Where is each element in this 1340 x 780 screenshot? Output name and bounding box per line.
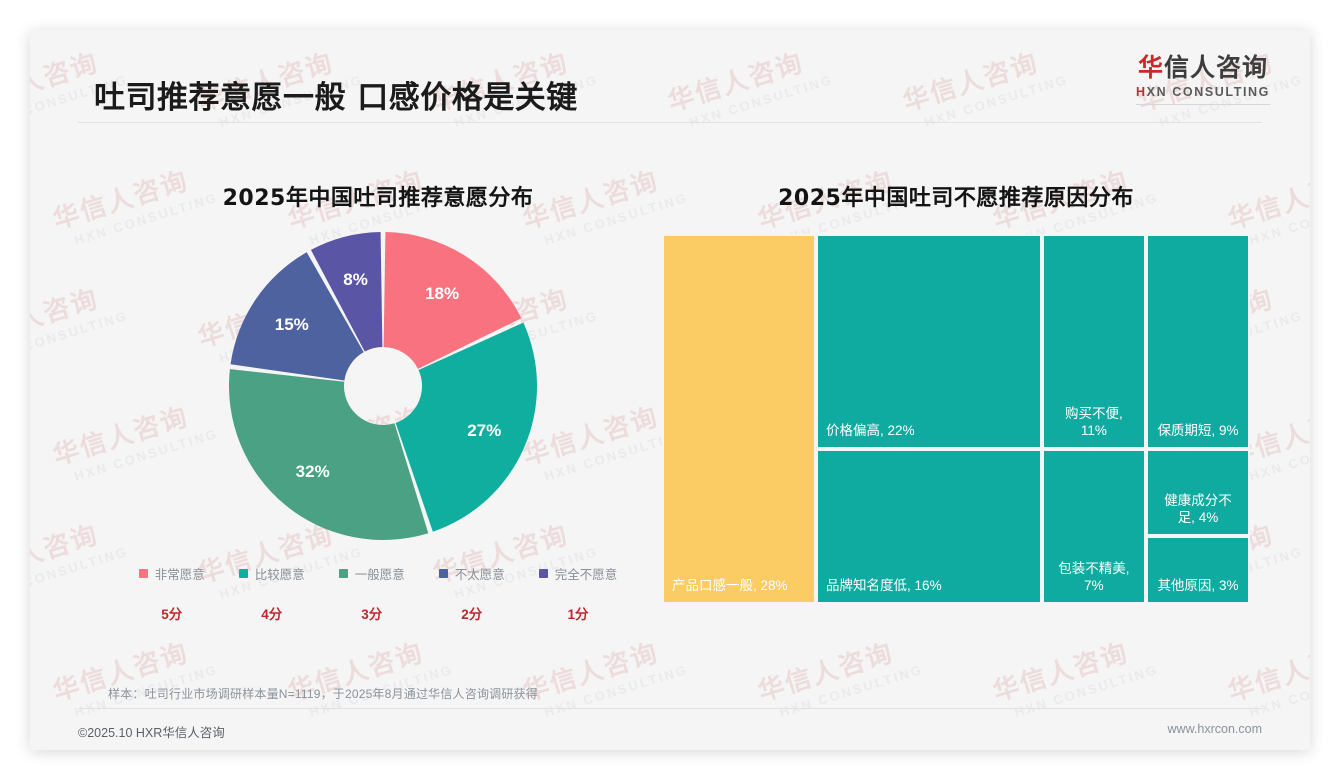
treemap-area: 产品口感一般, 28%价格偏高, 22%品牌知名度低, 16%购买不便, 11%… (662, 234, 1250, 604)
slide-header: 吐司推荐意愿一般 口感价格是关键 华信人咨询 HXN CONSULTING (30, 30, 1310, 123)
treemap-cell[interactable]: 品牌知名度低, 16% (816, 449, 1042, 604)
legend-item[interactable]: 一般愿意 (339, 564, 405, 583)
logo-english: HXN CONSULTING (1136, 85, 1270, 99)
treemap-cell-label: 包装不精美, 7% (1044, 561, 1144, 602)
legend-swatch (539, 569, 548, 578)
treemap-cell-label: 价格偏高, 22% (818, 423, 1040, 447)
treemap-cell[interactable]: 保质期短, 9% (1146, 234, 1250, 449)
legend-label: 比较愿意 (255, 564, 305, 583)
treemap-cell[interactable]: 健康成分不足, 4% (1146, 449, 1250, 536)
brand-logo: 华信人咨询 HXN CONSULTING (1136, 54, 1270, 105)
treemap-cell-label: 品牌知名度低, 16% (818, 578, 1040, 602)
treemap-cell[interactable]: 价格偏高, 22% (816, 234, 1042, 449)
donut-slice-label: 15% (275, 315, 309, 334)
treemap-cell-label: 产品口感一般, 28% (664, 578, 814, 602)
legend-swatch (239, 569, 248, 578)
logo-chinese-accent: 华 (1138, 53, 1164, 82)
copyright-text: ©2025.10 HXR华信人咨询 (78, 722, 225, 741)
donut-slice-label: 27% (467, 421, 501, 440)
treemap-chart-title: 2025年中国吐司不愿推荐原因分布 (650, 180, 1262, 212)
treemap-cell-label: 其他原因, 3% (1148, 578, 1248, 602)
legend-swatch (439, 569, 448, 578)
legend-item[interactable]: 比较愿意 (239, 564, 305, 583)
treemap-cell[interactable]: 包装不精美, 7% (1042, 449, 1146, 604)
legend-score: 2分 (452, 603, 492, 623)
donut-svg: 18%27%32%15%8% (78, 228, 678, 558)
donut-score-row: 5分4分3分2分1分 (78, 603, 678, 623)
donut-chart-panel: 2025年中国吐司推荐意愿分布 18%27%32%15%8% 非常愿意比较愿意一… (78, 140, 678, 680)
legend-label: 非常愿意 (155, 564, 205, 583)
treemap-cell[interactable]: 其他原因, 3% (1146, 536, 1250, 604)
legend-label: 一般愿意 (355, 564, 405, 583)
donut-legend: 非常愿意比较愿意一般愿意不太愿意完全不愿意 (78, 564, 678, 583)
legend-item[interactable]: 完全不愿意 (539, 564, 618, 583)
legend-score: 1分 (558, 603, 598, 623)
treemap-cell-label: 购买不便, 11% (1044, 406, 1144, 447)
slide-card: 华信人咨询HXN CONSULTING华信人咨询HXN CONSULTING华信… (30, 30, 1310, 750)
donut-chart-area: 18%27%32%15%8% (78, 228, 678, 558)
legend-label: 完全不愿意 (555, 564, 618, 583)
donut-slice-label: 18% (425, 284, 459, 303)
treemap-cell-label: 健康成分不足, 4% (1148, 493, 1248, 534)
logo-chinese: 华信人咨询 (1136, 54, 1270, 82)
donut-slice-label: 8% (343, 270, 368, 289)
logo-english-rest: XN CONSULTING (1147, 85, 1270, 99)
treemap-cell-label: 保质期短, 9% (1148, 423, 1248, 447)
legend-swatch (139, 569, 148, 578)
source-note: 样本：吐司行业市场调研样本量N=1119，于2025年8月通过华信人咨询调研获得 (108, 685, 538, 702)
logo-english-accent: H (1136, 85, 1147, 99)
legend-label: 不太愿意 (455, 564, 505, 583)
website-link[interactable]: www.hxrcon.com (1168, 722, 1262, 736)
legend-score: 4分 (252, 603, 292, 623)
legend-item[interactable]: 不太愿意 (439, 564, 505, 583)
header-divider (78, 122, 1262, 123)
slide-footer: ©2025.10 HXR华信人咨询 www.hxrcon.com (30, 714, 1310, 750)
donut-slice-label: 32% (296, 462, 330, 481)
legend-swatch (339, 569, 348, 578)
logo-divider (1136, 104, 1270, 105)
logo-chinese-rest: 信人咨询 (1164, 53, 1268, 82)
donut-chart-title: 2025年中国吐司推荐意愿分布 (78, 180, 678, 212)
treemap-cell[interactable]: 产品口感一般, 28% (662, 234, 816, 604)
footer-divider (78, 708, 1262, 709)
legend-score: 3分 (352, 603, 392, 623)
treemap-chart-panel: 2025年中国吐司不愿推荐原因分布 产品口感一般, 28%价格偏高, 22%品牌… (650, 140, 1262, 680)
donut-slice[interactable] (229, 369, 428, 540)
treemap-cell[interactable]: 购买不便, 11% (1042, 234, 1146, 449)
page-title: 吐司推荐意愿一般 口感价格是关键 (94, 72, 578, 117)
legend-item[interactable]: 非常愿意 (139, 564, 205, 583)
legend-score: 5分 (152, 603, 192, 623)
